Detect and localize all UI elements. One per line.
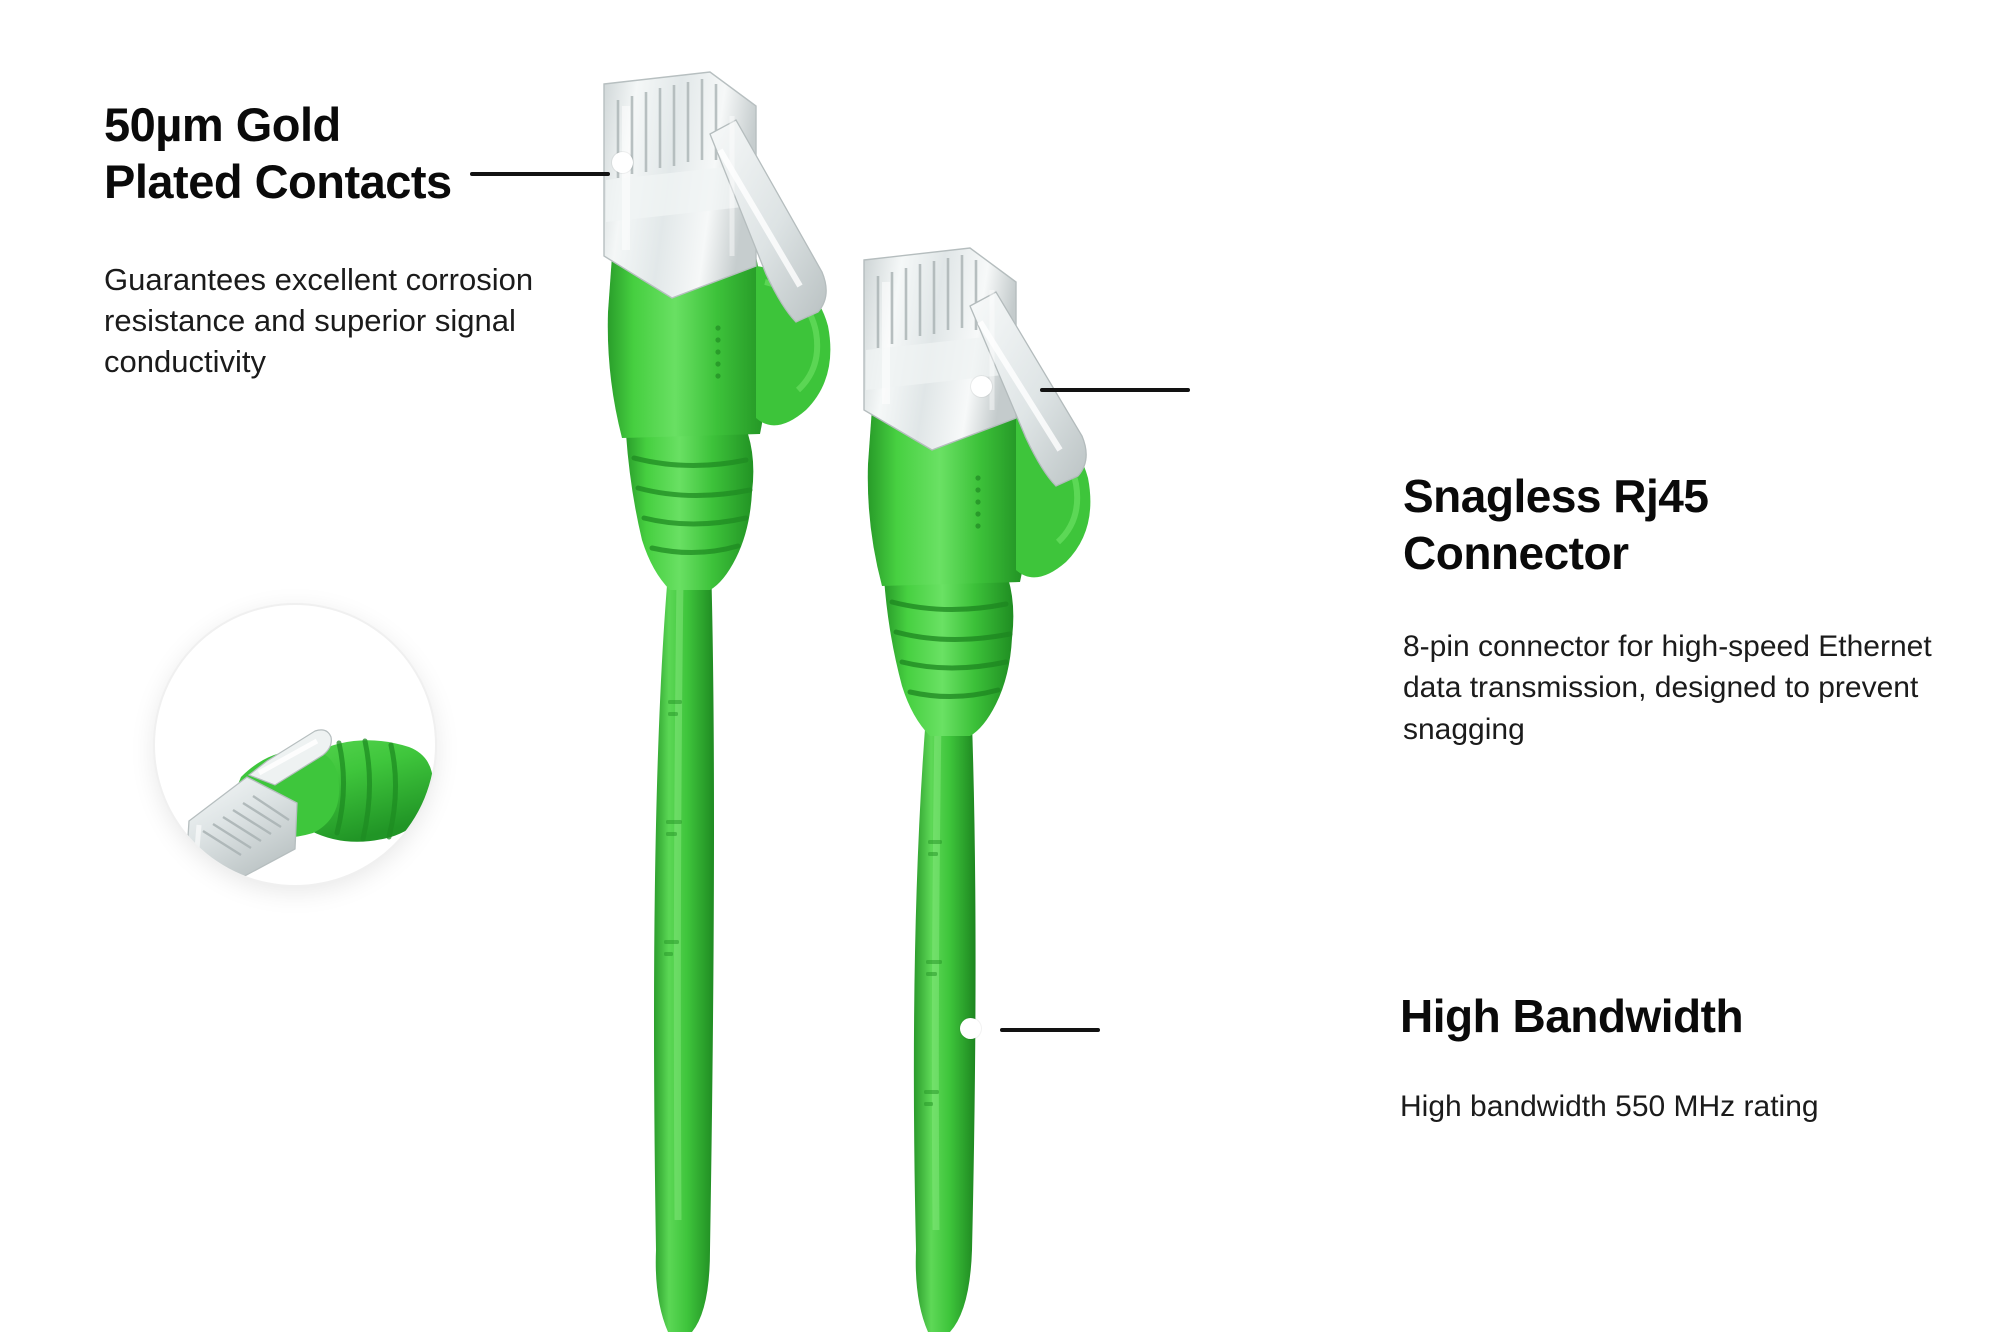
callout-body-snagless-rj45-connector: 8-pin connector for high-speed Ethernet … [1403,626,1933,750]
callout-gold-plated-contacts: 50µm GoldPlated Contacts Guarantees exce… [104,96,664,382]
leader-dot-snagless [971,376,992,397]
callout-body-gold-plated-contacts: Guarantees excellent corrosion resistanc… [104,259,664,383]
callout-title-line1: 50µm Gold [104,98,341,151]
infographic-canvas: 50µm GoldPlated Contacts Guarantees exce… [0,0,2000,1335]
callout-body-high-bandwidth: High bandwidth 550 MHz rating [1400,1086,1945,1127]
callout-title-snagless-rj45-connector: Snagless Rj45Connector [1403,468,1933,582]
callout-title-high-bandwidth: High Bandwidth [1400,988,1945,1044]
leader-line-bandwidth [1000,1028,1100,1032]
leader-dot-bandwidth [960,1018,981,1039]
inset-connector-graphic [163,635,435,885]
callout-title-line2: Plated Contacts [104,155,452,208]
callout-title-line1: Snagless Rj45 [1403,470,1708,522]
callout-title-line2: Connector [1403,527,1629,579]
callout-snagless-rj45-connector: Snagless Rj45Connector 8-pin connector f… [1403,468,1933,750]
cable-connector-rear-graphic [830,240,1160,1335]
connector-detail-inset [155,605,435,885]
leader-line-snagless [1040,388,1190,392]
callout-high-bandwidth: High Bandwidth High bandwidth 550 MHz ra… [1400,988,1945,1127]
callout-title-gold-plated-contacts: 50µm GoldPlated Contacts [104,96,664,211]
